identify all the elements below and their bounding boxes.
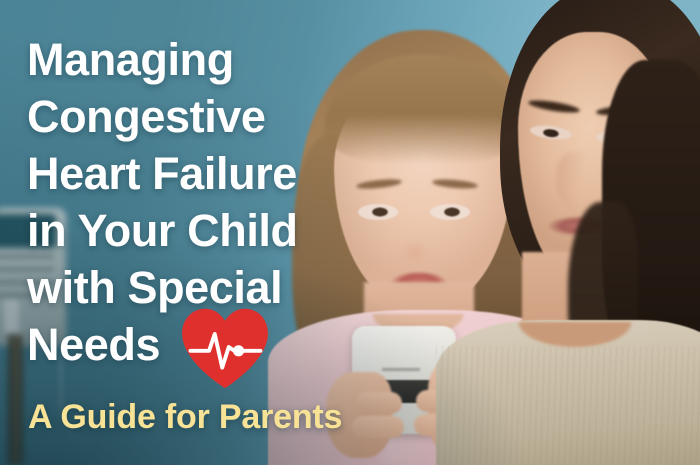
poster-banner: Managing Congestive Heart Failure in You… bbox=[0, 0, 700, 465]
page-subtitle: A Guide for Parents bbox=[28, 396, 342, 438]
page-title: Managing Congestive Heart Failure in You… bbox=[27, 31, 298, 373]
